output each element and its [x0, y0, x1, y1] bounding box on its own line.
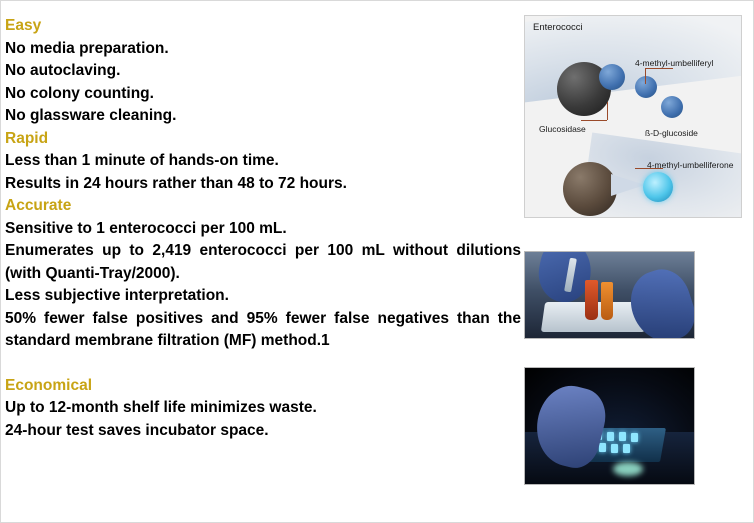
- document-page: Easy No media preparation. No autoclavin…: [0, 0, 754, 523]
- label-glucosidase: Glucosidase: [539, 124, 586, 134]
- accurate-line-1: Sensitive to 1 enterococci per 100 mL.: [5, 218, 521, 241]
- economical-line-1: Up to 12-month shelf life minimizes wast…: [5, 397, 521, 420]
- figure-column: Enterococci 4-methyl-umbelliferyl ß-D-gl…: [524, 15, 744, 485]
- label-mu-glucoside-bottom: ß-D-glucoside: [645, 128, 698, 138]
- label-mu-glucoside-top: 4-methyl-umbelliferyl: [635, 58, 713, 68]
- easy-line-4: No glassware cleaning.: [5, 105, 521, 128]
- leader-line-substrate-vertical: [645, 68, 646, 84]
- uv-photo-well: [631, 433, 638, 442]
- lab-photo-tube-orange: [601, 282, 613, 320]
- accurate-line-2: Enumerates up to 2,419 enterococci per 1…: [5, 240, 521, 285]
- rapid-line-1: Less than 1 minute of hands-on time.: [5, 150, 521, 173]
- section-heading-rapid: Rapid: [5, 128, 521, 151]
- uv-photo-well: [611, 444, 618, 453]
- easy-line-2: No autoclaving.: [5, 60, 521, 83]
- easy-line-1: No media preparation.: [5, 38, 521, 61]
- economical-line-2: 24-hour test saves incubator space.: [5, 420, 521, 443]
- uv-photo-well: [623, 444, 630, 453]
- text-column: Easy No media preparation. No autoclavin…: [5, 15, 521, 442]
- enterococci-diagram: Enterococci 4-methyl-umbelliferyl ß-D-gl…: [524, 15, 742, 218]
- uv-photo-well: [599, 443, 606, 452]
- uv-photo: [524, 367, 695, 485]
- lab-photo-tube-red: [585, 280, 598, 320]
- easy-line-3: No colony counting.: [5, 83, 521, 106]
- glucosidase-site-icon: [599, 64, 625, 90]
- uv-photo-well: [619, 432, 626, 441]
- section-heading-economical: Economical: [5, 375, 521, 398]
- diagram-title: Enterococci: [533, 22, 583, 33]
- lab-photo: [524, 251, 695, 339]
- section-heading-accurate: Accurate: [5, 195, 521, 218]
- enterococci-cell-icon-2: [563, 162, 617, 216]
- umbelliferone-glow-icon: [643, 172, 673, 202]
- accurate-line-3: Less subjective interpretation.: [5, 285, 521, 308]
- uv-photo-fluorescence-glow: [613, 462, 643, 476]
- substrate-sphere-icon: [635, 76, 657, 98]
- section-spacer: [5, 353, 521, 375]
- substrate-sphere-icon-2: [661, 96, 683, 118]
- uv-photo-well: [607, 432, 614, 441]
- leader-line-glucosidase-vertical: [607, 102, 608, 120]
- accurate-line-4: 50% fewer false positives and 95% fewer …: [5, 308, 521, 353]
- leader-line-glucosidase: [581, 120, 607, 121]
- leader-line-substrate: [645, 68, 673, 69]
- label-umbelliferone: 4-methyl-umbelliferone: [647, 160, 733, 170]
- rapid-line-2: Results in 24 hours rather than 48 to 72…: [5, 173, 521, 196]
- release-cone-icon: [611, 174, 645, 196]
- section-heading-easy: Easy: [5, 15, 521, 38]
